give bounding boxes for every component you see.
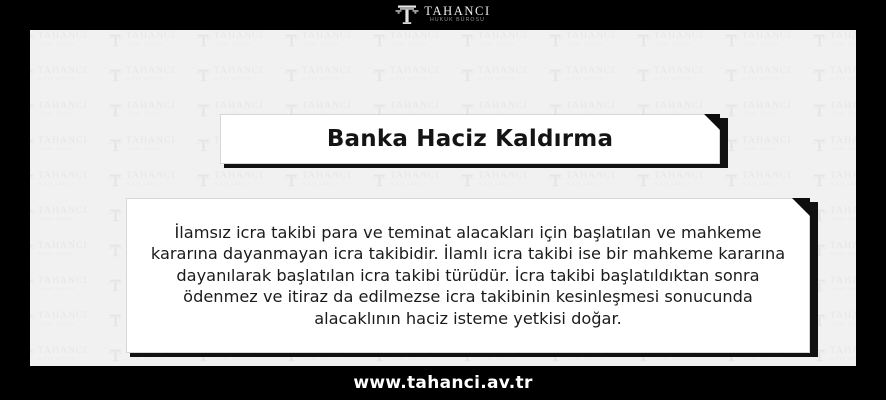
watermark-name: TAHANCI bbox=[830, 172, 856, 182]
pillar-column-icon bbox=[30, 103, 35, 117]
pillar-column-icon bbox=[812, 138, 827, 152]
watermark-name: TAHANCI bbox=[830, 137, 856, 147]
watermark-tile: TAHANCIHUKUK BÜROSU bbox=[372, 30, 460, 57]
watermark-name: TAHANCI bbox=[830, 32, 856, 42]
watermark-tile: TAHANCIHUKUK BÜROSU bbox=[372, 57, 460, 92]
watermark-tile: TAHANCIHUKUK BÜROSU bbox=[812, 162, 856, 197]
pillar-column-icon bbox=[196, 103, 211, 117]
pillar-column-icon bbox=[196, 173, 211, 187]
watermark-name: TAHANCI bbox=[478, 102, 528, 112]
watermark-name: TAHANCI bbox=[654, 102, 704, 112]
pillar-column-icon bbox=[372, 68, 387, 82]
pillar-column-icon bbox=[108, 33, 123, 47]
watermark-name: TAHANCI bbox=[214, 102, 264, 112]
pillar-column-icon bbox=[30, 173, 35, 187]
brand-tagline: HUKUK BÜROSU bbox=[430, 18, 485, 23]
watermark-tagline: HUKUK BÜROSU bbox=[830, 183, 856, 187]
watermark-name: TAHANCI bbox=[830, 207, 856, 217]
website-url: www.tahanci.av.tr bbox=[353, 373, 532, 393]
body-card: İlamsız icra takibi para ve teminat alac… bbox=[126, 198, 810, 353]
watermark-name: TAHANCI bbox=[566, 67, 616, 77]
watermark-name: TAHANCI bbox=[390, 32, 440, 42]
pillar-column-icon bbox=[395, 3, 419, 25]
watermark-tagline: HUKUK BÜROSU bbox=[830, 358, 856, 362]
watermark-tagline: HUKUK BÜROSU bbox=[830, 218, 856, 222]
watermark-tagline: HUKUK BÜROSU bbox=[126, 78, 176, 82]
watermark-tile: TAHANCIHUKUK BÜROSU bbox=[812, 267, 856, 302]
watermark-name: TAHANCI bbox=[214, 67, 264, 77]
pillar-column-icon bbox=[636, 68, 651, 82]
watermark-name: TAHANCI bbox=[478, 67, 528, 77]
watermark-name: TAHANCI bbox=[478, 172, 528, 182]
watermark-name: TAHANCI bbox=[830, 312, 856, 322]
pillar-column-icon bbox=[636, 33, 651, 47]
watermark-name: TAHANCI bbox=[830, 277, 856, 287]
pillar-column-icon bbox=[108, 138, 123, 152]
watermark-tagline: HUKUK BÜROSU bbox=[478, 183, 528, 187]
pillar-column-icon bbox=[636, 173, 651, 187]
pillar-column-icon bbox=[460, 173, 475, 187]
watermark-tagline: HUKUK BÜROSU bbox=[830, 113, 856, 117]
watermark-tagline: HUKUK BÜROSU bbox=[214, 43, 264, 47]
pillar-column-icon bbox=[108, 68, 123, 82]
watermark-name: TAHANCI bbox=[654, 32, 704, 42]
folded-corner-icon bbox=[704, 114, 720, 130]
body-paragraph: İlamsız icra takibi para ve teminat alac… bbox=[149, 222, 787, 329]
watermark-name: TAHANCI bbox=[566, 102, 616, 112]
watermark-name: TAHANCI bbox=[566, 32, 616, 42]
watermark-tagline: HUKUK BÜROSU bbox=[742, 78, 792, 82]
watermark-tile: TAHANCIHUKUK BÜROSU bbox=[636, 57, 724, 92]
watermark-tile: TAHANCIHUKUK BÜROSU bbox=[196, 30, 284, 57]
watermark-name: TAHANCI bbox=[302, 32, 352, 42]
watermark-tile: TAHANCIHUKUK BÜROSU bbox=[30, 302, 108, 337]
watermark-tile: TAHANCIHUKUK BÜROSU bbox=[30, 57, 108, 92]
title-card: Banka Haciz Kaldırma bbox=[220, 114, 720, 164]
watermark-tagline: HUKUK BÜROSU bbox=[302, 78, 352, 82]
watermark-tile: TAHANCIHUKUK BÜROSU bbox=[724, 127, 812, 162]
watermark-tagline: HUKUK BÜROSU bbox=[390, 358, 440, 362]
watermark-tile: TAHANCIHUKUK BÜROSU bbox=[548, 30, 636, 57]
pillar-column-icon bbox=[460, 33, 475, 47]
watermark-tagline: HUKUK BÜROSU bbox=[830, 148, 856, 152]
poster-canvas: TAHANCI HUKUK BÜROSU TAHANCIHUKUK BÜROSU… bbox=[0, 0, 886, 400]
watermark-tile: TAHANCIHUKUK BÜROSU bbox=[30, 267, 108, 302]
watermark-tile: TAHANCIHUKUK BÜROSU bbox=[30, 92, 108, 127]
watermark-name: TAHANCI bbox=[390, 172, 440, 182]
watermark-name: TAHANCI bbox=[38, 32, 88, 42]
watermark-tagline: HUKUK BÜROSU bbox=[302, 358, 352, 362]
watermark-tagline: HUKUK BÜROSU bbox=[566, 358, 616, 362]
watermark-tile: TAHANCIHUKUK BÜROSU bbox=[460, 30, 548, 57]
watermark-name: TAHANCI bbox=[654, 172, 704, 182]
pillar-column-icon bbox=[812, 33, 827, 47]
watermark-tagline: HUKUK BÜROSU bbox=[38, 253, 88, 257]
watermark-tagline: HUKUK BÜROSU bbox=[390, 43, 440, 47]
pillar-column-icon bbox=[30, 33, 35, 47]
watermark-tagline: HUKUK BÜROSU bbox=[742, 148, 792, 152]
pillar-column-icon bbox=[108, 313, 123, 327]
pillar-column-icon bbox=[812, 173, 827, 187]
watermark-tagline: HUKUK BÜROSU bbox=[830, 323, 856, 327]
watermark-tagline: HUKUK BÜROSU bbox=[126, 148, 176, 152]
pillar-column-icon bbox=[284, 68, 299, 82]
watermark-tagline: HUKUK BÜROSU bbox=[38, 113, 88, 117]
watermark-tile: TAHANCIHUKUK BÜROSU bbox=[108, 127, 196, 162]
watermark-tagline: HUKUK BÜROSU bbox=[38, 358, 88, 362]
watermark-tagline: HUKUK BÜROSU bbox=[654, 78, 704, 82]
watermark-name: TAHANCI bbox=[126, 67, 176, 77]
watermark-tagline: HUKUK BÜROSU bbox=[478, 78, 528, 82]
brand-logo: TAHANCI HUKUK BÜROSU bbox=[395, 3, 490, 25]
watermark-tagline: HUKUK BÜROSU bbox=[654, 358, 704, 362]
watermark-name: TAHANCI bbox=[390, 102, 440, 112]
watermark-tagline: HUKUK BÜROSU bbox=[742, 183, 792, 187]
watermark-tagline: HUKUK BÜROSU bbox=[566, 43, 616, 47]
watermark-name: TAHANCI bbox=[742, 102, 792, 112]
watermark-tagline: HUKUK BÜROSU bbox=[214, 183, 264, 187]
watermark-name: TAHANCI bbox=[38, 347, 88, 357]
pillar-column-icon bbox=[30, 68, 35, 82]
watermark-tile: TAHANCIHUKUK BÜROSU bbox=[812, 232, 856, 267]
pillar-column-icon bbox=[30, 348, 35, 362]
watermark-tile: TAHANCIHUKUK BÜROSU bbox=[196, 57, 284, 92]
watermark-tile: TAHANCIHUKUK BÜROSU bbox=[284, 30, 372, 57]
watermark-name: TAHANCI bbox=[742, 32, 792, 42]
watermark-tile: TAHANCIHUKUK BÜROSU bbox=[108, 30, 196, 57]
pillar-column-icon bbox=[108, 173, 123, 187]
watermark-tagline: HUKUK BÜROSU bbox=[566, 183, 616, 187]
watermark-tagline: HUKUK BÜROSU bbox=[830, 43, 856, 47]
pillar-column-icon bbox=[372, 173, 387, 187]
watermark-tagline: HUKUK BÜROSU bbox=[390, 183, 440, 187]
folded-corner-icon bbox=[792, 198, 810, 216]
watermark-name: TAHANCI bbox=[830, 347, 856, 357]
watermark-name: TAHANCI bbox=[566, 172, 616, 182]
watermark-tile: TAHANCIHUKUK BÜROSU bbox=[812, 92, 856, 127]
watermark-tagline: HUKUK BÜROSU bbox=[38, 43, 88, 47]
watermark-name: TAHANCI bbox=[38, 137, 88, 147]
watermark-tile: TAHANCIHUKUK BÜROSU bbox=[30, 162, 108, 197]
pillar-column-icon bbox=[196, 68, 211, 82]
watermark-tile: TAHANCIHUKUK BÜROSU bbox=[30, 30, 108, 57]
watermark-tagline: HUKUK BÜROSU bbox=[390, 78, 440, 82]
watermark-tagline: HUKUK BÜROSU bbox=[742, 43, 792, 47]
watermark-tagline: HUKUK BÜROSU bbox=[214, 358, 264, 362]
watermark-name: TAHANCI bbox=[126, 102, 176, 112]
watermark-tagline: HUKUK BÜROSU bbox=[126, 43, 176, 47]
pillar-column-icon bbox=[460, 68, 475, 82]
watermark-tile: TAHANCIHUKUK BÜROSU bbox=[724, 162, 812, 197]
watermark-tagline: HUKUK BÜROSU bbox=[478, 43, 528, 47]
watermark-tagline: HUKUK BÜROSU bbox=[38, 323, 88, 327]
watermark-name: TAHANCI bbox=[742, 67, 792, 77]
watermark-tagline: HUKUK BÜROSU bbox=[654, 43, 704, 47]
watermark-tile: TAHANCIHUKUK BÜROSU bbox=[108, 57, 196, 92]
watermark-name: TAHANCI bbox=[38, 207, 88, 217]
watermark-name: TAHANCI bbox=[126, 32, 176, 42]
watermark-name: TAHANCI bbox=[38, 67, 88, 77]
watermark-name: TAHANCI bbox=[390, 67, 440, 77]
brand-wordmark: TAHANCI HUKUK BÜROSU bbox=[424, 5, 490, 24]
pillar-column-icon bbox=[30, 138, 35, 152]
watermark-tagline: HUKUK BÜROSU bbox=[126, 358, 176, 362]
watermark-name: TAHANCI bbox=[302, 67, 352, 77]
watermark-tagline: HUKUK BÜROSU bbox=[38, 78, 88, 82]
pillar-column-icon bbox=[108, 278, 123, 292]
watermark-tagline: HUKUK BÜROSU bbox=[302, 43, 352, 47]
watermark-name: TAHANCI bbox=[302, 172, 352, 182]
pillar-column-icon bbox=[108, 348, 123, 362]
watermark-name: TAHANCI bbox=[214, 32, 264, 42]
watermark-tile: TAHANCIHUKUK BÜROSU bbox=[724, 57, 812, 92]
pillar-column-icon bbox=[724, 103, 739, 117]
watermark-name: TAHANCI bbox=[654, 67, 704, 77]
watermark-tile: TAHANCIHUKUK BÜROSU bbox=[548, 57, 636, 92]
footer-band: www.tahanci.av.tr bbox=[0, 366, 886, 400]
pillar-column-icon bbox=[812, 68, 827, 82]
watermark-name: TAHANCI bbox=[126, 137, 176, 147]
watermark-tile: TAHANCIHUKUK BÜROSU bbox=[724, 30, 812, 57]
watermark-name: TAHANCI bbox=[38, 312, 88, 322]
watermark-name: TAHANCI bbox=[830, 102, 856, 112]
watermark-tile: TAHANCIHUKUK BÜROSU bbox=[636, 30, 724, 57]
watermark-tile: TAHANCIHUKUK BÜROSU bbox=[812, 197, 856, 232]
pillar-column-icon bbox=[548, 68, 563, 82]
watermark-tile: TAHANCIHUKUK BÜROSU bbox=[812, 30, 856, 57]
pillar-column-icon bbox=[108, 103, 123, 117]
page-title: Banka Haciz Kaldırma bbox=[327, 126, 613, 152]
watermark-tagline: HUKUK BÜROSU bbox=[214, 78, 264, 82]
watermark-tile: TAHANCIHUKUK BÜROSU bbox=[108, 92, 196, 127]
watermark-tile: TAHANCIHUKUK BÜROSU bbox=[30, 232, 108, 267]
watermark-name: TAHANCI bbox=[126, 172, 176, 182]
watermark-tile: TAHANCIHUKUK BÜROSU bbox=[30, 337, 108, 366]
watermark-tile: TAHANCIHUKUK BÜROSU bbox=[812, 57, 856, 92]
watermark-name: TAHANCI bbox=[38, 102, 88, 112]
watermark-name: TAHANCI bbox=[742, 137, 792, 147]
watermark-tagline: HUKUK BÜROSU bbox=[126, 113, 176, 117]
pillar-column-icon bbox=[724, 173, 739, 187]
watermark-name: TAHANCI bbox=[38, 172, 88, 182]
pillar-column-icon bbox=[812, 103, 827, 117]
watermark-tile: TAHANCIHUKUK BÜROSU bbox=[812, 127, 856, 162]
watermark-tile: TAHANCIHUKUK BÜROSU bbox=[812, 302, 856, 337]
watermark-tile: TAHANCIHUKUK BÜROSU bbox=[30, 127, 108, 162]
watermark-tagline: HUKUK BÜROSU bbox=[830, 78, 856, 82]
watermark-tagline: HUKUK BÜROSU bbox=[38, 148, 88, 152]
pillar-column-icon bbox=[548, 173, 563, 187]
pillar-column-icon bbox=[30, 313, 35, 327]
watermark-tagline: HUKUK BÜROSU bbox=[566, 78, 616, 82]
watermark-tagline: HUKUK BÜROSU bbox=[830, 253, 856, 257]
pillar-column-icon bbox=[108, 208, 123, 222]
pillar-column-icon bbox=[284, 33, 299, 47]
watermark-tile: TAHANCIHUKUK BÜROSU bbox=[460, 57, 548, 92]
content-canvas: TAHANCIHUKUK BÜROSUTAHANCIHUKUK BÜROSUTA… bbox=[30, 30, 856, 366]
pillar-column-icon bbox=[108, 243, 123, 257]
watermark-tagline: HUKUK BÜROSU bbox=[742, 113, 792, 117]
watermark-name: TAHANCI bbox=[830, 242, 856, 252]
pillar-column-icon bbox=[30, 243, 35, 257]
pillar-column-icon bbox=[30, 278, 35, 292]
pillar-column-icon bbox=[724, 68, 739, 82]
pillar-column-icon bbox=[196, 138, 211, 152]
watermark-tagline: HUKUK BÜROSU bbox=[38, 288, 88, 292]
brand-name: TAHANCI bbox=[424, 5, 490, 18]
watermark-tagline: HUKUK BÜROSU bbox=[742, 358, 792, 362]
pillar-column-icon bbox=[30, 208, 35, 222]
watermark-tagline: HUKUK BÜROSU bbox=[38, 183, 88, 187]
watermark-tile: TAHANCIHUKUK BÜROSU bbox=[284, 57, 372, 92]
watermark-tile: TAHANCIHUKUK BÜROSU bbox=[724, 92, 812, 127]
watermark-name: TAHANCI bbox=[38, 242, 88, 252]
watermark-tagline: HUKUK BÜROSU bbox=[38, 218, 88, 222]
header-band: TAHANCI HUKUK BÜROSU bbox=[0, 0, 886, 30]
pillar-column-icon bbox=[724, 33, 739, 47]
watermark-name: TAHANCI bbox=[302, 102, 352, 112]
watermark-tagline: HUKUK BÜROSU bbox=[830, 288, 856, 292]
pillar-column-icon bbox=[548, 33, 563, 47]
watermark-tagline: HUKUK BÜROSU bbox=[302, 183, 352, 187]
watermark-tile: TAHANCIHUKUK BÜROSU bbox=[812, 337, 856, 366]
watermark-name: TAHANCI bbox=[742, 172, 792, 182]
pillar-column-icon bbox=[372, 33, 387, 47]
watermark-tile: TAHANCIHUKUK BÜROSU bbox=[108, 162, 196, 197]
watermark-name: TAHANCI bbox=[830, 67, 856, 77]
watermark-tagline: HUKUK BÜROSU bbox=[126, 183, 176, 187]
pillar-column-icon bbox=[196, 33, 211, 47]
watermark-tagline: HUKUK BÜROSU bbox=[654, 183, 704, 187]
watermark-name: TAHANCI bbox=[478, 32, 528, 42]
watermark-name: TAHANCI bbox=[214, 172, 264, 182]
watermark-name: TAHANCI bbox=[38, 277, 88, 287]
watermark-tagline: HUKUK BÜROSU bbox=[478, 358, 528, 362]
pillar-column-icon bbox=[284, 173, 299, 187]
watermark-tile: TAHANCIHUKUK BÜROSU bbox=[30, 197, 108, 232]
